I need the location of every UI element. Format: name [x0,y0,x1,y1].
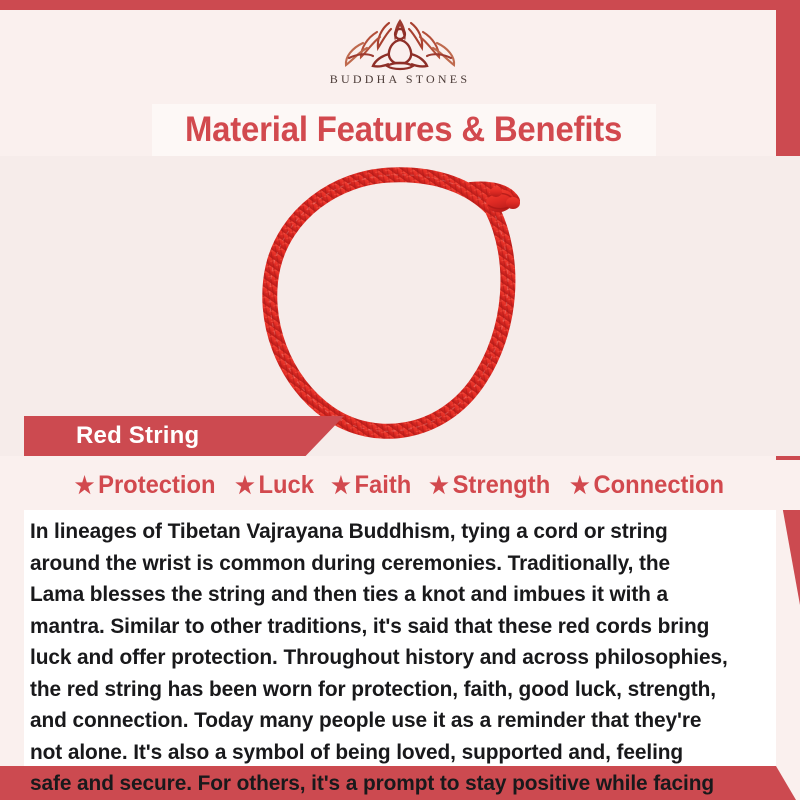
benefit-protection: ★ Protection [75,471,216,500]
benefit-label: Strength [453,471,551,500]
red-braided-string-bracelet [255,161,545,451]
benefit-label: Protection [99,471,216,500]
product-label-ribbon: Red String [24,416,344,456]
benefit-label: Luck [258,471,313,500]
lotus-meditation-figure-icon [325,10,475,76]
benefit-connection: ★ Connection [570,471,724,500]
benefit-strength: ★ Strength [429,471,550,500]
star-icon: ★ [235,474,255,497]
benefit-label: Connection [594,471,725,500]
page-title: Material Features & Benefits [185,110,622,150]
description-panel: In lineages of Tibetan Vajrayana Buddhis… [24,510,776,766]
brand-name: BUDDHA STONES [330,72,470,87]
benefit-faith: ★ Faith [331,471,411,500]
star-icon: ★ [331,474,351,497]
decorative-top-bar [0,0,800,10]
brand-logo: BUDDHA STONES [0,10,800,102]
star-icon: ★ [429,474,449,497]
star-icon: ★ [75,474,95,497]
description-text: In lineages of Tibetan Vajrayana Buddhis… [30,516,728,800]
benefits-row: ★ Protection ★ Luck ★ Faith ★ Strength ★… [0,460,800,510]
star-icon: ★ [570,474,590,497]
hero-section [0,156,800,456]
benefit-label: Faith [354,471,411,500]
title-banner: Material Features & Benefits [152,104,656,156]
benefit-luck: ★ Luck [235,471,314,500]
product-label: Red String [76,422,199,450]
infographic-page: BUDDHA STONES Material Features & Benefi… [0,0,800,800]
